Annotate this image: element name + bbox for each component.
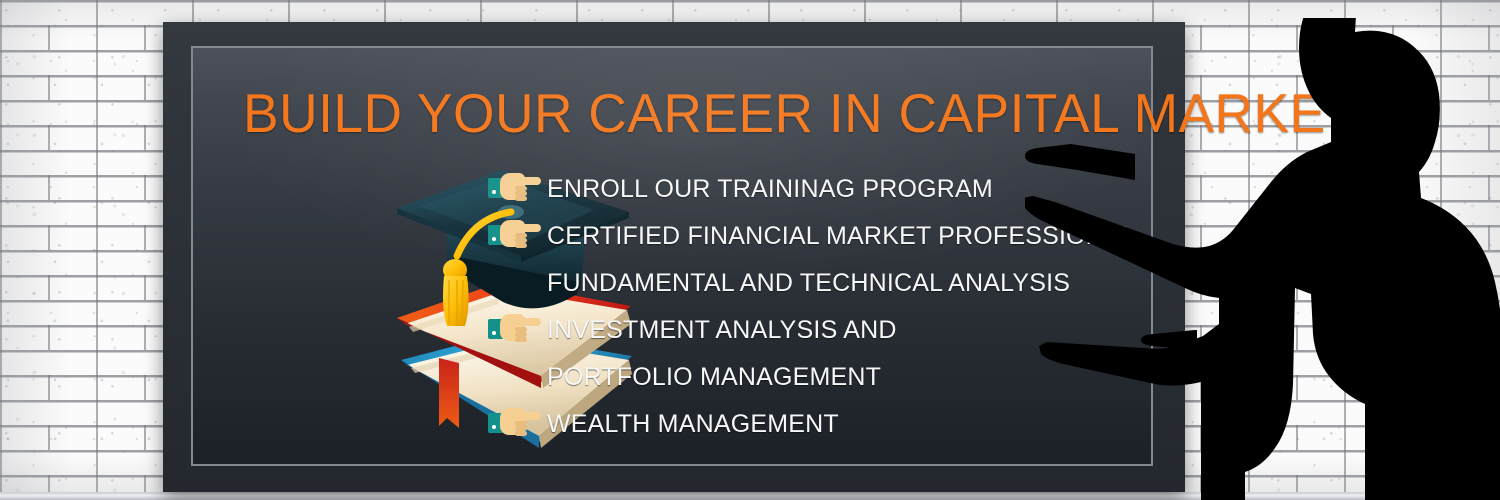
pointing-right-hand-icon (485, 170, 547, 204)
bookmark-ribbon (439, 358, 459, 428)
blackboard-panel: BUILD YOUR CAREER IN CAPITAL MARKET (191, 46, 1153, 466)
pointing-right-hand-icon (485, 217, 547, 251)
career-banner: BUILD YOUR CAREER IN CAPITAL MARKET (0, 0, 1500, 500)
presenter-silhouette (1025, 18, 1500, 500)
pointing-right-hand-icon (485, 311, 547, 345)
pointing-right-hand-icon (485, 405, 547, 439)
page-title: BUILD YOUR CAREER IN CAPITAL MARKET (243, 82, 1104, 144)
